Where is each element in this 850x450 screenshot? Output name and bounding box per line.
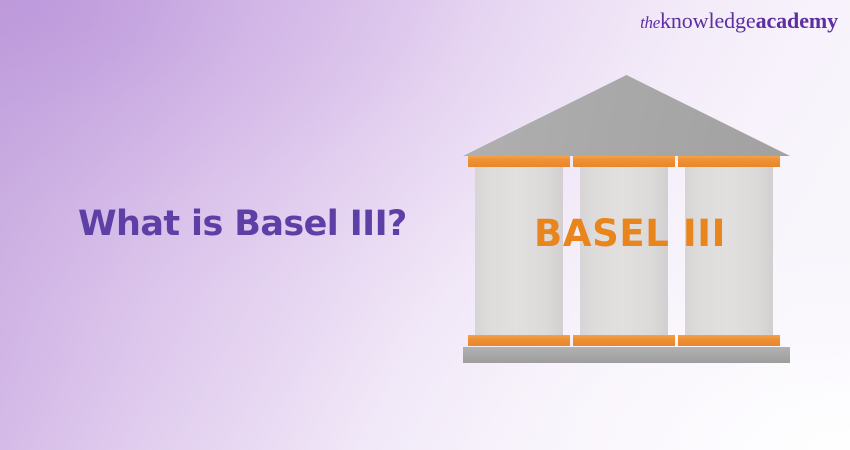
logo-word-knowledge: knowledge	[660, 8, 756, 33]
pillar-base	[573, 335, 675, 346]
bank-platform	[463, 347, 790, 363]
bank-roof-shading	[463, 75, 790, 156]
page-title: What is Basel III?	[78, 205, 407, 244]
logo-word-academy: academy	[756, 8, 838, 33]
bank-label: BASEL III	[455, 215, 805, 252]
logo-word-the: the	[640, 13, 660, 32]
bank-illustration: BASEL III	[455, 60, 805, 360]
pillar-cap	[678, 156, 780, 167]
pillar-base	[468, 335, 570, 346]
slide-canvas: theknowledgeacademy What is Basel III? B…	[0, 0, 850, 450]
pillar-base	[678, 335, 780, 346]
brand-logo[interactable]: theknowledgeacademy	[640, 10, 838, 32]
pillar-cap	[468, 156, 570, 167]
pillar-cap	[573, 156, 675, 167]
